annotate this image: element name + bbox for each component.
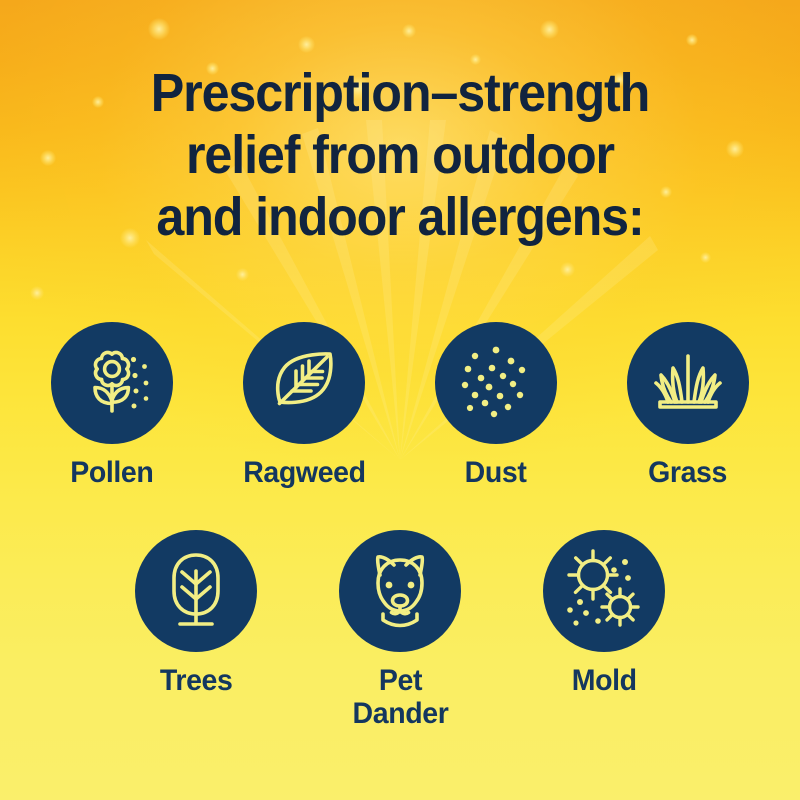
light-spot (298, 36, 315, 53)
indoor-allergens-row: Trees (0, 530, 800, 730)
headline-line-3: and indoor allergens: (28, 186, 772, 248)
tree-icon (154, 547, 238, 635)
allergen-label-trees: Trees (160, 664, 233, 697)
allergen-disc-mold (543, 530, 665, 652)
allergen-disc-trees (135, 530, 257, 652)
light-spot (540, 20, 559, 39)
allergen-label-pollen: Pollen (70, 456, 153, 489)
dog-face-icon (355, 547, 445, 635)
allergen-item-ragweed[interactable]: Ragweed (243, 322, 365, 489)
light-spot (686, 34, 698, 46)
page-title: Prescription–strength relief from outdoo… (28, 62, 772, 248)
mold-spores-icon (558, 545, 650, 637)
light-spot (700, 252, 711, 263)
allergen-label-dust: Dust (465, 456, 527, 489)
allergen-disc-pet-dander (339, 530, 461, 652)
allergen-disc-dust (435, 322, 557, 444)
allergen-grid: Pollen (0, 322, 800, 730)
leaf-icon (261, 340, 347, 426)
allergen-label-ragweed: Ragweed (243, 456, 365, 489)
allergen-item-grass[interactable]: Grass (627, 322, 749, 489)
outdoor-allergens-row: Pollen (0, 322, 800, 489)
dust-particles-icon (448, 335, 544, 431)
allergen-item-pollen[interactable]: Pollen (51, 322, 173, 489)
allergen-label-pet-dander: Pet Dander (352, 664, 448, 730)
light-spot (148, 18, 170, 40)
light-spot (402, 24, 416, 38)
allergen-item-pet-dander[interactable]: Pet Dander (339, 530, 461, 730)
allergen-disc-grass (627, 322, 749, 444)
allergen-label-mold: Mold (572, 664, 637, 697)
allergen-disc-ragweed (243, 322, 365, 444)
flower-pollen-icon (67, 338, 157, 428)
light-spot (560, 262, 575, 277)
allergen-item-mold[interactable]: Mold (543, 530, 665, 697)
allergen-item-trees[interactable]: Trees (135, 530, 257, 697)
grass-blades-icon (644, 339, 732, 427)
light-spot (30, 286, 44, 300)
headline-line-2: relief from outdoor (28, 124, 772, 186)
allergen-item-dust[interactable]: Dust (435, 322, 557, 489)
allergen-label-grass: Grass (649, 456, 728, 489)
allergen-disc-pollen (51, 322, 173, 444)
allergen-poster: Prescription–strength relief from outdoo… (0, 0, 800, 800)
light-spot (236, 268, 249, 281)
headline-line-1: Prescription–strength (28, 62, 772, 124)
